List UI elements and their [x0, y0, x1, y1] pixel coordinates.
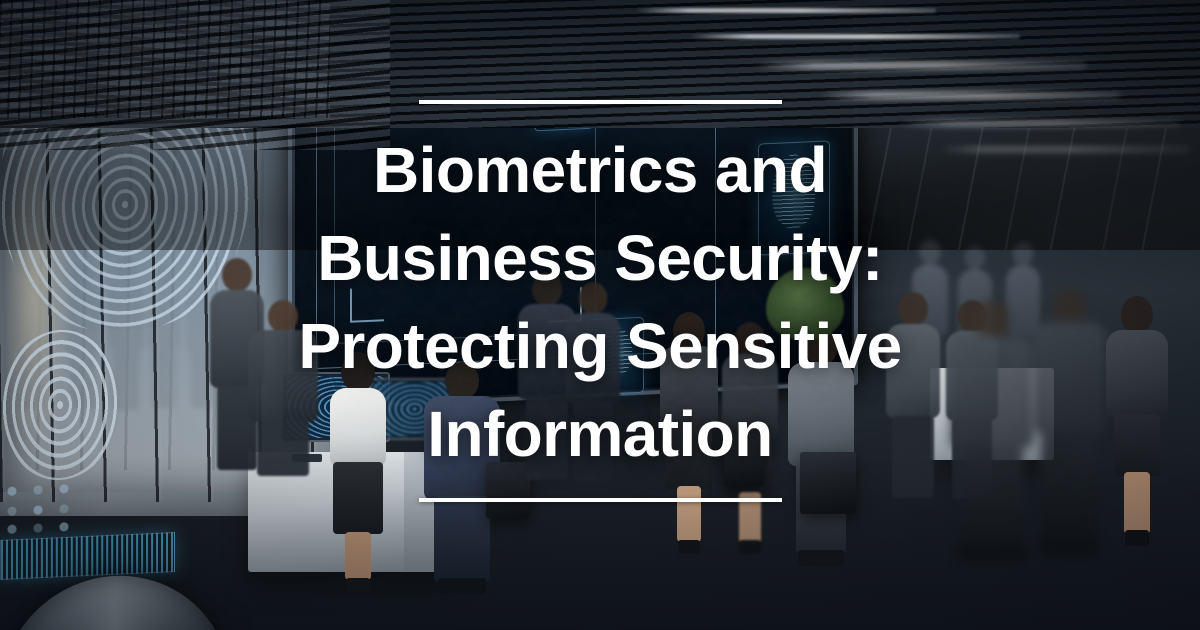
page-title: Biometrics and Business Security: Protec… — [258, 126, 941, 478]
biometric-waveform-strip — [0, 532, 175, 580]
article-hero-banner: Biometrics and Business Security: Protec… — [0, 0, 1200, 630]
title-rule-top — [419, 100, 782, 104]
title-rule-bottom — [419, 498, 782, 502]
hero-title-block: Biometrics and Business Security: Protec… — [0, 100, 1200, 502]
